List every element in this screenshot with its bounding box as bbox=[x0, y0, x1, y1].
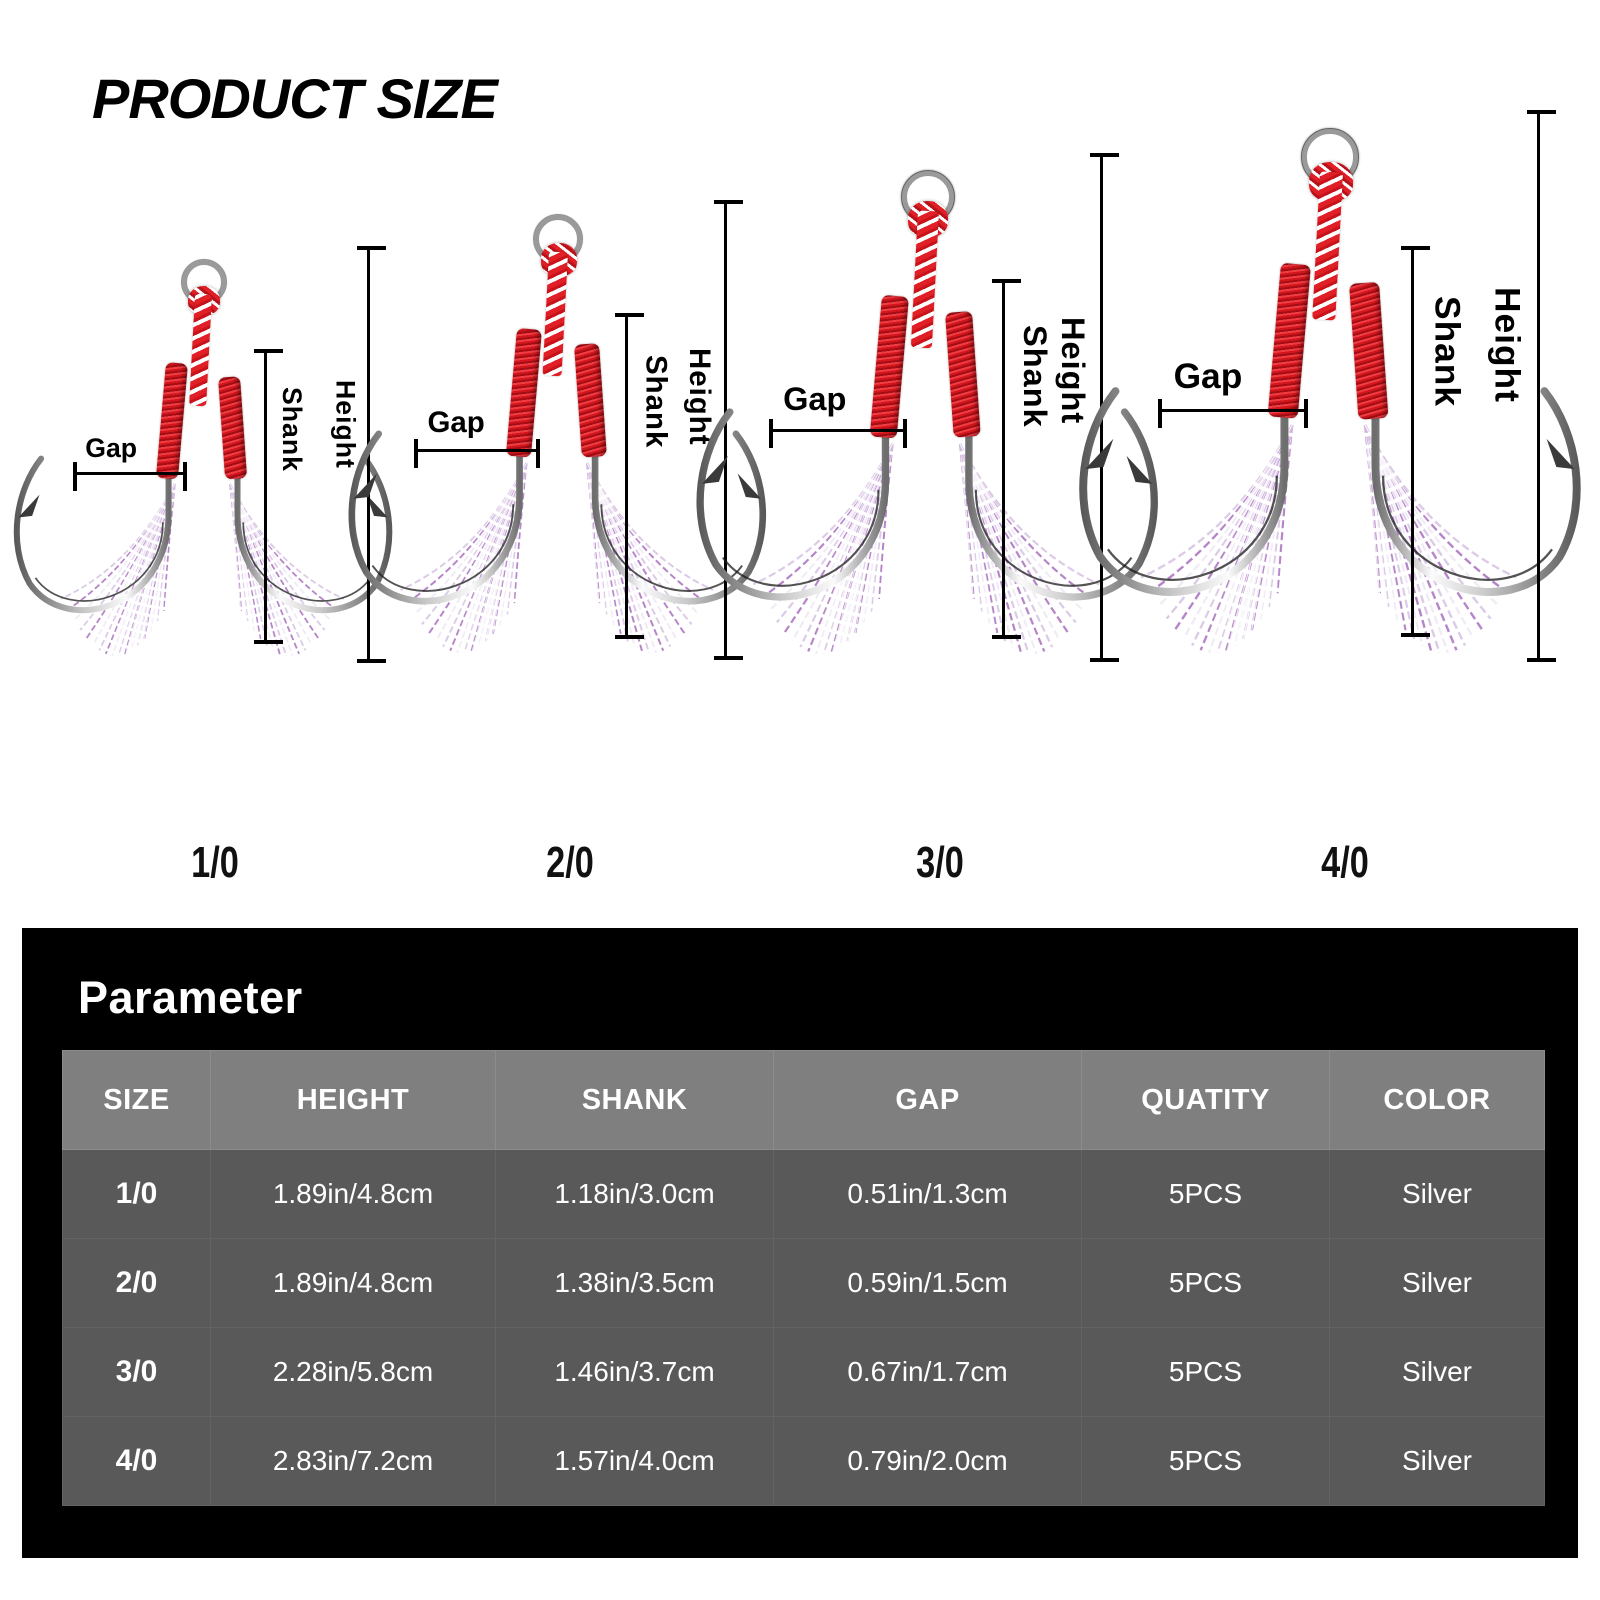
cell-gap: 0.51in/1.3cm bbox=[774, 1150, 1082, 1239]
cell-size: 2/0 bbox=[63, 1239, 211, 1328]
cell-size: 4/0 bbox=[63, 1417, 211, 1506]
parameter-table: SIZE HEIGHT SHANK GAP QUATITY COLOR 1/0 … bbox=[62, 1050, 1545, 1506]
cell-height: 2.83in/7.2cm bbox=[211, 1417, 496, 1506]
cell-gap: 0.59in/1.5cm bbox=[774, 1239, 1082, 1328]
cell-quantity: 5PCS bbox=[1082, 1417, 1330, 1506]
assist-hook bbox=[330, 432, 547, 667]
height-dimension-label: Height bbox=[1487, 287, 1527, 403]
cell-color: Silver bbox=[1330, 1417, 1545, 1506]
hook-illustration-4-0: GapShankHeight4/0 bbox=[1110, 120, 1580, 880]
gap-dimension-label: Gap bbox=[428, 406, 485, 440]
cell-quantity: 5PCS bbox=[1082, 1239, 1330, 1328]
height-dimension-line bbox=[1537, 112, 1540, 660]
cell-shank: 1.46in/3.7cm bbox=[496, 1328, 774, 1417]
cell-height: 1.89in/4.8cm bbox=[211, 1239, 496, 1328]
assist-hook bbox=[676, 410, 915, 669]
product-size-infographic: PRODUCT SIZE GapShankHeight1/0GapShankHe… bbox=[0, 0, 1600, 1600]
cell-color: Silver bbox=[1330, 1150, 1545, 1239]
hook-size-label: 4/0 bbox=[1162, 838, 1529, 888]
cell-color: Silver bbox=[1330, 1328, 1545, 1417]
column-header-size: SIZE bbox=[63, 1051, 211, 1150]
table-row: 3/0 2.28in/5.8cm 1.46in/3.7cm 0.67in/1.7… bbox=[63, 1328, 1545, 1417]
table-row: 4/0 2.83in/7.2cm 1.57in/4.0cm 0.79in/2.0… bbox=[63, 1417, 1545, 1506]
shank-dimension-label: Shank bbox=[638, 355, 672, 448]
cell-gap: 0.79in/2.0cm bbox=[774, 1417, 1082, 1506]
table-header-row: SIZE HEIGHT SHANK GAP QUATITY COLOR bbox=[63, 1051, 1545, 1150]
shank-dimension-line bbox=[264, 351, 267, 643]
shank-dimension-line bbox=[1002, 281, 1005, 637]
column-header-shank: SHANK bbox=[496, 1051, 774, 1150]
assist-hook bbox=[1343, 389, 1600, 671]
hook-diagram-row: GapShankHeight1/0GapShankHeight2/0GapSha… bbox=[0, 120, 1600, 880]
shank-dimension-label: Shank bbox=[1016, 325, 1053, 428]
hook-size-label: 1/0 bbox=[71, 838, 360, 888]
gap-dimension-label: Gap bbox=[1174, 357, 1243, 397]
gap-dimension-line bbox=[75, 472, 185, 475]
gap-dimension-line bbox=[416, 449, 538, 452]
gap-dimension-label: Gap bbox=[783, 381, 846, 418]
cell-height: 1.89in/4.8cm bbox=[211, 1150, 496, 1239]
shank-dimension-label: Shank bbox=[1427, 296, 1467, 407]
cell-shank: 1.38in/3.5cm bbox=[496, 1239, 774, 1328]
hook-size-label: 3/0 bbox=[784, 838, 1096, 888]
column-header-gap: GAP bbox=[774, 1051, 1082, 1150]
gap-dimension-label: Gap bbox=[85, 433, 137, 464]
column-header-height: HEIGHT bbox=[211, 1051, 496, 1150]
cell-gap: 0.67in/1.7cm bbox=[774, 1328, 1082, 1417]
parameter-panel: Parameter SIZE HEIGHT SHANK GAP QUATITY … bbox=[22, 928, 1578, 1558]
column-header-quantity: QUATITY bbox=[1082, 1051, 1330, 1150]
table-row: 2/0 1.89in/4.8cm 1.38in/3.5cm 0.59in/1.5… bbox=[63, 1239, 1545, 1328]
table-row: 1/0 1.89in/4.8cm 1.18in/3.0cm 0.51in/1.3… bbox=[63, 1150, 1545, 1239]
gap-dimension-line bbox=[1160, 409, 1306, 412]
cell-quantity: 5PCS bbox=[1082, 1150, 1330, 1239]
column-header-color: COLOR bbox=[1330, 1051, 1545, 1150]
shank-dimension-line bbox=[625, 315, 628, 637]
hook-size-label: 2/0 bbox=[422, 838, 718, 888]
cell-size: 1/0 bbox=[63, 1150, 211, 1239]
shank-dimension-line bbox=[1411, 248, 1414, 634]
cell-size: 3/0 bbox=[63, 1328, 211, 1417]
gap-dimension-line bbox=[771, 429, 905, 432]
cell-quantity: 5PCS bbox=[1082, 1328, 1330, 1417]
parameter-panel-title: Parameter bbox=[78, 972, 303, 1024]
cell-shank: 1.18in/3.0cm bbox=[496, 1150, 774, 1239]
shank-dimension-label: Shank bbox=[276, 387, 307, 472]
assist-hook bbox=[1057, 389, 1317, 671]
assist-hook bbox=[0, 457, 193, 669]
cell-color: Silver bbox=[1330, 1239, 1545, 1328]
cell-height: 2.28in/5.8cm bbox=[211, 1328, 496, 1417]
parameter-table-body: 1/0 1.89in/4.8cm 1.18in/3.0cm 0.51in/1.3… bbox=[63, 1150, 1545, 1506]
cell-shank: 1.57in/4.0cm bbox=[496, 1417, 774, 1506]
